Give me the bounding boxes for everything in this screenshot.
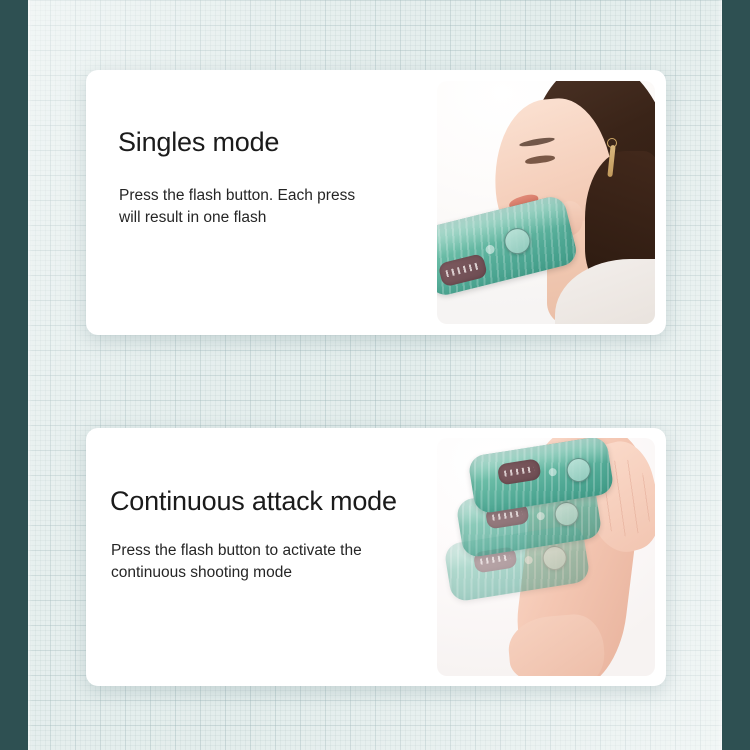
card-title: Singles mode: [118, 127, 279, 158]
card-text-block: Continuous attack mode Press the flash b…: [86, 428, 438, 686]
card-description: Press the flash button to activate the c…: [111, 540, 401, 584]
product-feature-page: Singles mode Press the flash button. Eac…: [0, 0, 750, 750]
right-accent-bar: [722, 0, 750, 750]
left-bar-highlight: [28, 0, 32, 750]
feature-card-singles-mode[interactable]: Singles mode Press the flash button. Eac…: [86, 70, 666, 335]
card-photo-continuous-mode: [437, 438, 655, 676]
card-description: Press the flash button. Each press will …: [119, 185, 379, 229]
feature-card-continuous-attack-mode[interactable]: Continuous attack mode Press the flash b…: [86, 428, 666, 686]
card-text-block: Singles mode Press the flash button. Eac…: [86, 70, 438, 335]
left-accent-bar: [0, 0, 28, 750]
right-bar-highlight: [718, 0, 722, 750]
card-title: Continuous attack mode: [110, 486, 397, 517]
card-photo-singles-mode: [437, 81, 655, 324]
